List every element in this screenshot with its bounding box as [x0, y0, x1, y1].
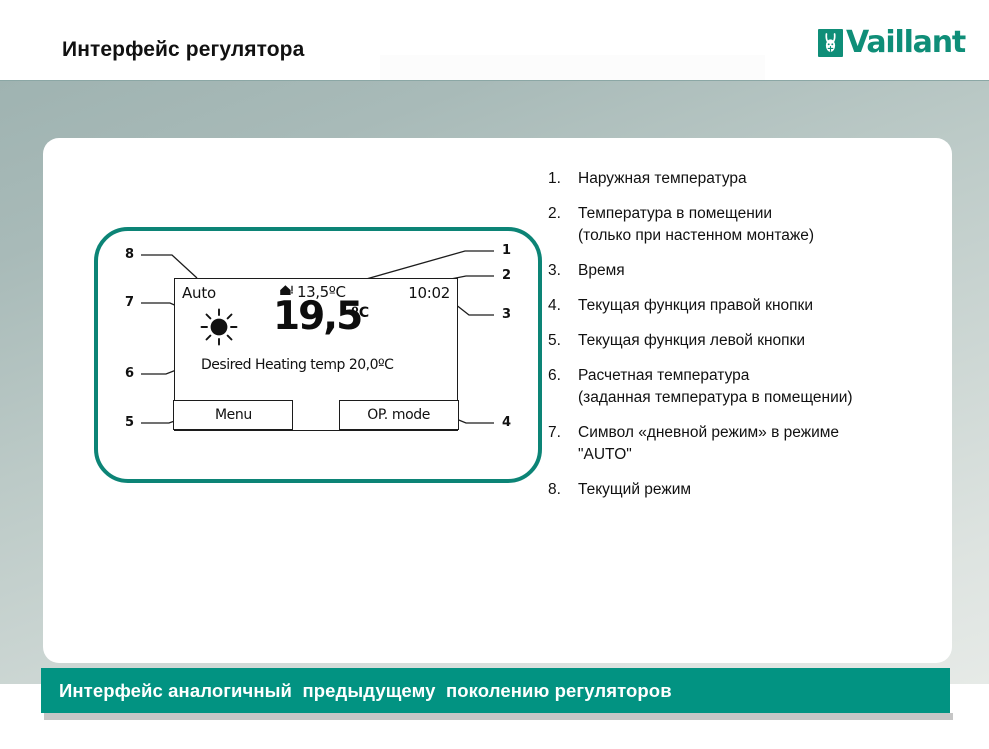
- list-item: 5. Текущая функция левой кнопки: [548, 330, 948, 352]
- room-temp-unit: ºC: [351, 305, 369, 321]
- callout-8: 8: [125, 247, 134, 262]
- list-item-label: Наружная температура: [578, 168, 747, 190]
- vaillant-logo: Vaillant: [818, 26, 965, 60]
- list-item-number: 3.: [548, 260, 578, 282]
- list-item-number: 1.: [548, 168, 578, 190]
- banner-shadow: [44, 713, 953, 720]
- footer-banner-text: Интерфейс аналогичный предыдущему поколе…: [59, 680, 672, 702]
- room-temp-value: 19,5: [273, 297, 361, 336]
- desired-temp-text: Desired Heating temp 20,0ºC: [201, 357, 393, 373]
- sun-day-mode-icon: [199, 307, 239, 347]
- legend-list: 1. Наружная температура 2. Температура в…: [548, 168, 948, 514]
- list-item-label: Текущая функция левой кнопки: [578, 330, 805, 352]
- list-item-label: Температура в помещении (только при наст…: [578, 203, 814, 247]
- page-title: Интерфейс регулятора: [62, 38, 304, 62]
- list-item: 6. Расчетная температура (заданная темпе…: [548, 365, 948, 409]
- list-item: 3. Время: [548, 260, 948, 282]
- softkey-right-op-mode[interactable]: OP. mode: [339, 400, 459, 430]
- list-item-label: Текущий режим: [578, 479, 691, 501]
- list-item: 4. Текущая функция правой кнопки: [548, 295, 948, 317]
- callout-1: 1: [502, 243, 511, 258]
- list-item-label: Расчетная температура (заданная температ…: [578, 365, 853, 409]
- callout-3: 3: [502, 307, 511, 322]
- vaillant-rabbit-icon: [818, 29, 843, 57]
- callout-2: 2: [502, 268, 511, 283]
- list-item-label: Текущая функция правой кнопки: [578, 295, 813, 317]
- list-item: 1. Наружная температура: [548, 168, 948, 190]
- list-item-number: 2.: [548, 203, 578, 225]
- softkey-left-menu[interactable]: Menu: [173, 400, 293, 430]
- list-item-number: 7.: [548, 422, 578, 444]
- title-watermark: [380, 55, 765, 83]
- footer-banner: Интерфейс аналогичный предыдущему поколе…: [41, 668, 950, 713]
- list-item-number: 4.: [548, 295, 578, 317]
- vaillant-wordmark: Vaillant: [846, 28, 965, 58]
- list-item: 8. Текущий режим: [548, 479, 948, 501]
- controller-display-diagram: 8 7 6 5 1 2 3 4 Auto 10:02 13,5ºC 19,5 º…: [94, 227, 542, 483]
- list-item-label: Символ «дневной режим» в режиме "AUTO": [578, 422, 839, 466]
- display-mode-label: Auto: [182, 284, 216, 302]
- display-time: 10:02: [408, 284, 450, 302]
- header-divider: [0, 80, 989, 81]
- list-item-number: 8.: [548, 479, 578, 501]
- page-header: Интерфейс регулятора Vaillant: [0, 0, 989, 81]
- list-item-label: Время: [578, 260, 625, 282]
- list-item-number: 5.: [548, 330, 578, 352]
- callout-5: 5: [125, 415, 134, 430]
- list-item: 7. Символ «дневной режим» в режиме "AUTO…: [548, 422, 948, 466]
- content-panel: 8 7 6 5 1 2 3 4 Auto 10:02 13,5ºC 19,5 º…: [43, 138, 952, 663]
- list-item: 2. Температура в помещении (только при н…: [548, 203, 948, 247]
- callout-7: 7: [125, 295, 134, 310]
- list-item-number: 6.: [548, 365, 578, 387]
- callout-4: 4: [502, 415, 511, 430]
- callout-6: 6: [125, 366, 134, 381]
- lcd-screen: Auto 10:02 13,5ºC 19,5 ºC: [174, 278, 458, 431]
